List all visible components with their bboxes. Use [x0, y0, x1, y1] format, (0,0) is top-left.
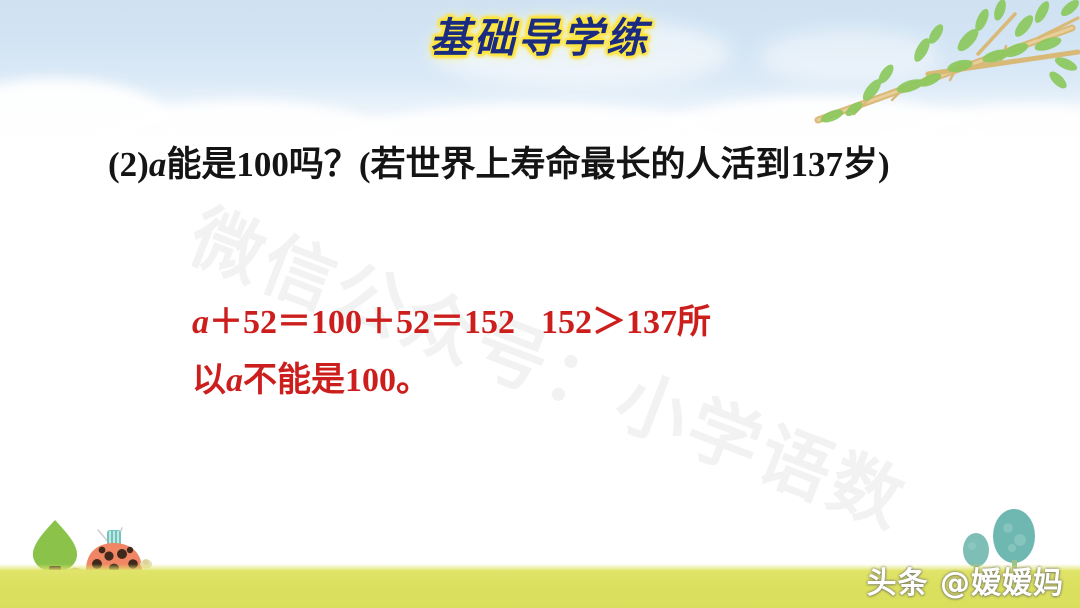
brand-handle: @嫒嫒妈 [940, 566, 1064, 601]
answer-line1-expression: ＋52＝100＋52＝152 [209, 304, 515, 341]
slide-canvas: 基础导学练 微信公众号：小学语数 (2)a能是100吗？(若世界上寿命最长的人活… [0, 0, 1080, 608]
answer-line2-prefix: 以 [192, 362, 226, 399]
answer-line2-suffix: 不能是100。 [243, 362, 430, 399]
slide-title-container: 基础导学练 [0, 4, 1080, 64]
brand-platform: 头条 [867, 566, 929, 601]
answer-line1-comparison: 152＞137所 [541, 304, 711, 341]
answer-line-1: a＋52＝100＋52＝152152＞137所 [192, 294, 952, 352]
answer-line-2: 以a不能是100。 [192, 352, 952, 410]
question-variable: a [149, 145, 167, 184]
question-value: 100 [236, 145, 289, 184]
answer-line2-variable: a [226, 362, 243, 399]
answer-block: a＋52＝100＋52＝152152＞137所 以a不能是100。 [192, 294, 952, 411]
question-parenthetical: (若世界上寿命最长的人活到137岁) [359, 145, 890, 184]
page-title: 基础导学练 [430, 4, 650, 64]
brand-watermark: 头条 @嫒嫒妈 [867, 558, 1064, 602]
question-text-after: 吗？ [289, 145, 359, 184]
question-text-before: 能是 [166, 145, 236, 184]
question-number: (2) [108, 145, 149, 184]
answer-line1-variable: a [192, 304, 209, 341]
question-text: (2)a能是100吗？(若世界上寿命最长的人活到137岁) [108, 143, 1008, 187]
